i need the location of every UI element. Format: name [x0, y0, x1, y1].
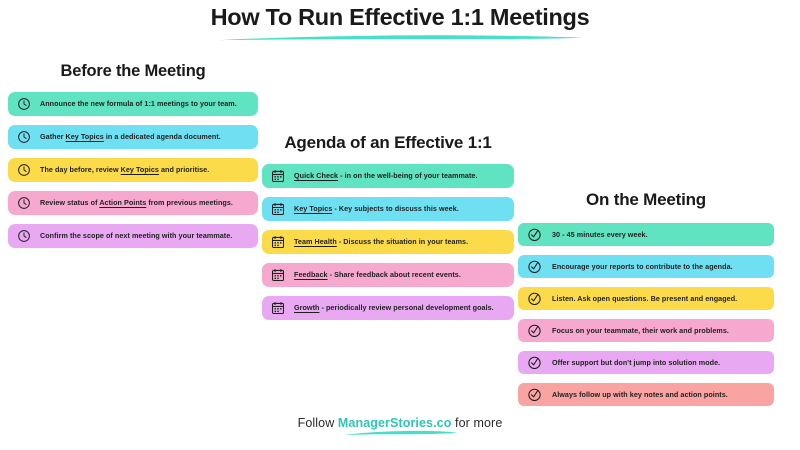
- list-item-label: Gather Key Topics in a dedicated agenda …: [40, 133, 221, 141]
- list-item-label: Review status of Action Points from prev…: [40, 199, 233, 207]
- list-item[interactable]: Growth - periodically review personal de…: [262, 296, 514, 320]
- list-item[interactable]: Quick Check - in on the well-being of yo…: [262, 164, 514, 188]
- section-title-agenda: Agenda of an Effective 1:1: [262, 133, 514, 153]
- emphasis-term: Growth: [294, 303, 319, 312]
- clock-icon: [17, 130, 31, 144]
- check-circle-icon: [527, 259, 542, 274]
- emphasis-term: Quick Check: [294, 171, 338, 180]
- calendar-icon: [271, 235, 285, 249]
- clock-icon: [17, 196, 31, 210]
- list-item-label: Encourage your reports to contribute to …: [552, 263, 733, 271]
- list-item-label: Key Topics - Key subjects to discuss thi…: [294, 205, 459, 213]
- list-item[interactable]: Team Health - Discuss the situation in y…: [262, 230, 514, 254]
- calendar-icon: [271, 301, 285, 315]
- emphasis-term: Key Topics: [121, 165, 159, 174]
- list-item-label: Announce the new formula of 1:1 meetings…: [40, 100, 237, 108]
- check-circle-icon: [527, 355, 542, 370]
- list-item-label: 30 - 45 minutes every week.: [552, 231, 648, 239]
- list-item-label: Quick Check - in on the well-being of yo…: [294, 172, 478, 180]
- footer-prefix: Follow: [298, 416, 338, 430]
- emphasis-term: Team Health: [294, 237, 337, 246]
- calendar-icon: [271, 169, 285, 183]
- list-item[interactable]: 30 - 45 minutes every week.: [518, 223, 774, 246]
- list-item[interactable]: Always follow up with key notes and acti…: [518, 383, 774, 406]
- calendar-icon: [271, 268, 285, 282]
- list-item[interactable]: Offer support but don't jump into soluti…: [518, 351, 774, 374]
- agenda-list: Quick Check - in on the well-being of yo…: [262, 164, 514, 320]
- footer-text: Follow ManagerStories.co for more: [0, 416, 800, 430]
- check-circle-icon: [527, 387, 542, 402]
- list-item[interactable]: Encourage your reports to contribute to …: [518, 255, 774, 278]
- list-item[interactable]: Review status of Action Points from prev…: [8, 191, 258, 215]
- emphasis-term: Key Topics: [66, 132, 104, 141]
- clock-icon: [17, 163, 31, 177]
- list-item[interactable]: Announce the new formula of 1:1 meetings…: [8, 92, 258, 116]
- list-item-label: Confirm the scope of next meeting with y…: [40, 232, 232, 240]
- on-the-meeting-list: 30 - 45 minutes every week. Encourage yo…: [518, 223, 774, 406]
- emphasis-term: Action Points: [99, 198, 146, 207]
- footer: Follow ManagerStories.co for more: [0, 416, 800, 437]
- list-item[interactable]: The day before, review Key Topics and pr…: [8, 158, 258, 182]
- list-item[interactable]: Confirm the scope of next meeting with y…: [8, 224, 258, 248]
- list-item[interactable]: Feedback - Share feedback about recent e…: [262, 263, 514, 287]
- calendar-icon: [271, 202, 285, 216]
- check-circle-icon: [527, 323, 542, 338]
- check-circle-icon: [527, 227, 542, 242]
- list-item-label: Offer support but don't jump into soluti…: [552, 359, 720, 367]
- emphasis-term: Key Topics: [294, 204, 332, 213]
- clock-icon: [17, 97, 31, 111]
- list-item[interactable]: Gather Key Topics in a dedicated agenda …: [8, 125, 258, 149]
- list-item-label: The day before, review Key Topics and pr…: [40, 166, 209, 174]
- section-title-on-meeting: On the Meeting: [518, 190, 774, 210]
- title-underline-swoosh: [216, 33, 584, 42]
- page-header: How To Run Effective 1:1 Meetings: [0, 4, 800, 42]
- list-item-label: Team Health - Discuss the situation in y…: [294, 238, 468, 246]
- list-item-label: Listen. Ask open questions. Be present a…: [552, 295, 737, 303]
- section-title-before: Before the Meeting: [8, 62, 258, 81]
- section-on-the-meeting: On the Meeting 30 - 45 minutes every wee…: [518, 190, 774, 406]
- list-item[interactable]: Focus on your teammate, their work and p…: [518, 319, 774, 342]
- footer-suffix: for more: [451, 416, 502, 430]
- before-the-meeting-list: Announce the new formula of 1:1 meetings…: [8, 92, 258, 248]
- list-item-label: Growth - periodically review personal de…: [294, 304, 494, 312]
- list-item-label: Focus on your teammate, their work and p…: [552, 327, 729, 335]
- list-item[interactable]: Listen. Ask open questions. Be present a…: [518, 287, 774, 310]
- footer-brand-link[interactable]: ManagerStories.co: [338, 416, 452, 430]
- page-title: How To Run Effective 1:1 Meetings: [0, 4, 800, 31]
- check-circle-icon: [527, 291, 542, 306]
- list-item-label: Feedback - Share feedback about recent e…: [294, 271, 461, 279]
- section-agenda: Agenda of an Effective 1:1 Quick Check -…: [262, 133, 514, 320]
- section-before-the-meeting: Before the Meeting Announce the new form…: [8, 62, 258, 248]
- footer-underline-swoosh: [341, 429, 459, 437]
- list-item-label: Always follow up with key notes and acti…: [552, 391, 728, 399]
- clock-icon: [17, 229, 31, 243]
- list-item[interactable]: Key Topics - Key subjects to discuss thi…: [262, 197, 514, 221]
- emphasis-term: Feedback: [294, 270, 328, 279]
